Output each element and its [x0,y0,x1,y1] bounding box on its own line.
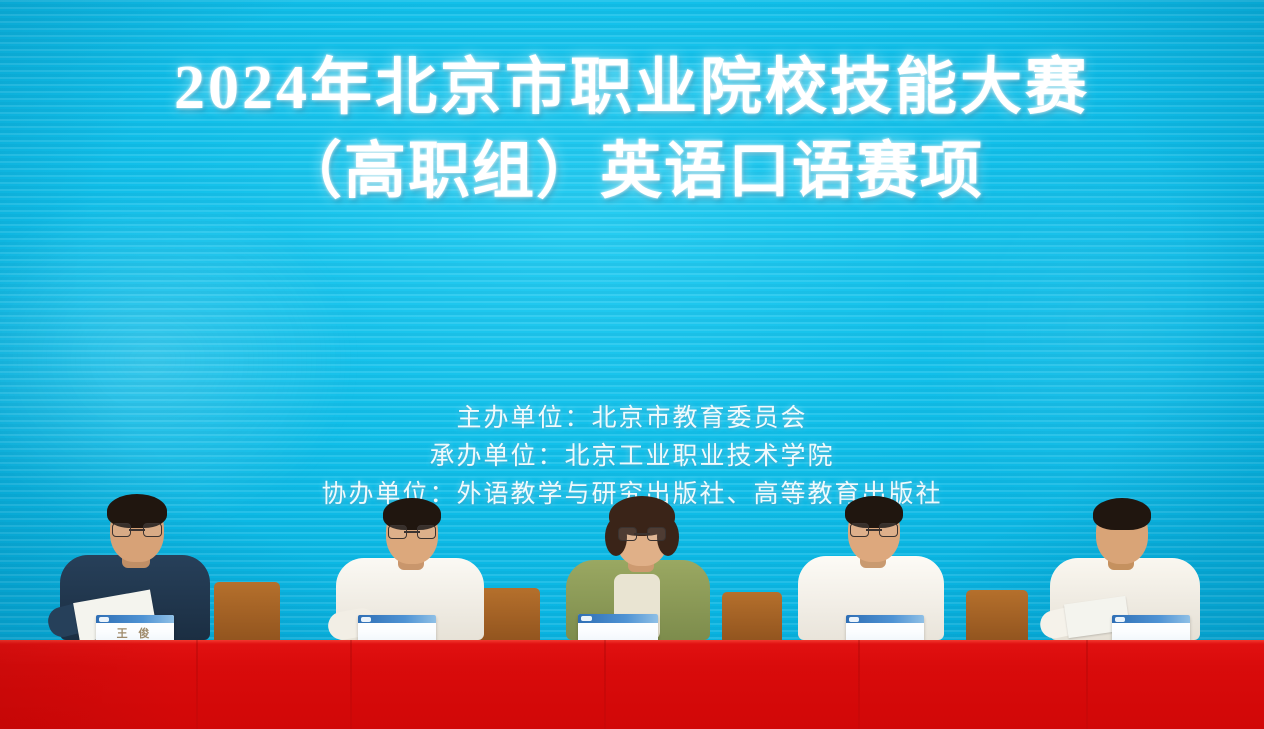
credit-line-organizer: 承办单位：北京工业职业技术学院 [0,438,1264,476]
placard-1-logo-icon [99,617,109,622]
panelist-2-glasses [387,524,437,538]
event-headline: 2024年北京市职业院校技能大赛 （高职组）英语口语赛项 [0,46,1264,214]
screenshot-stage: 2024年北京市职业院校技能大赛 （高职组）英语口语赛项 主办单位：北京市教育委… [0,0,1264,729]
panelist-4-glasses [849,522,899,536]
placard-3-logo-icon [581,616,591,622]
head-table-skirt [0,640,1264,729]
panelist-1-glasses [111,522,163,536]
chair-back-4 [966,590,1028,640]
panelist-3-glasses [617,526,667,540]
headline-line-1: 2024年北京市职业院校技能大赛 [0,46,1264,130]
credit-line-host: 主办单位：北京市教育委员会 [0,400,1264,438]
placard-2-logo-icon [361,617,371,622]
placard-1-name: 王 俊 [96,625,174,641]
placard-5-logo-icon [1115,617,1125,622]
panelist-5-hair [1093,498,1151,530]
headline-line-2: （高职组）英语口语赛项 [0,130,1264,214]
placard-4-logo-icon [849,617,859,622]
